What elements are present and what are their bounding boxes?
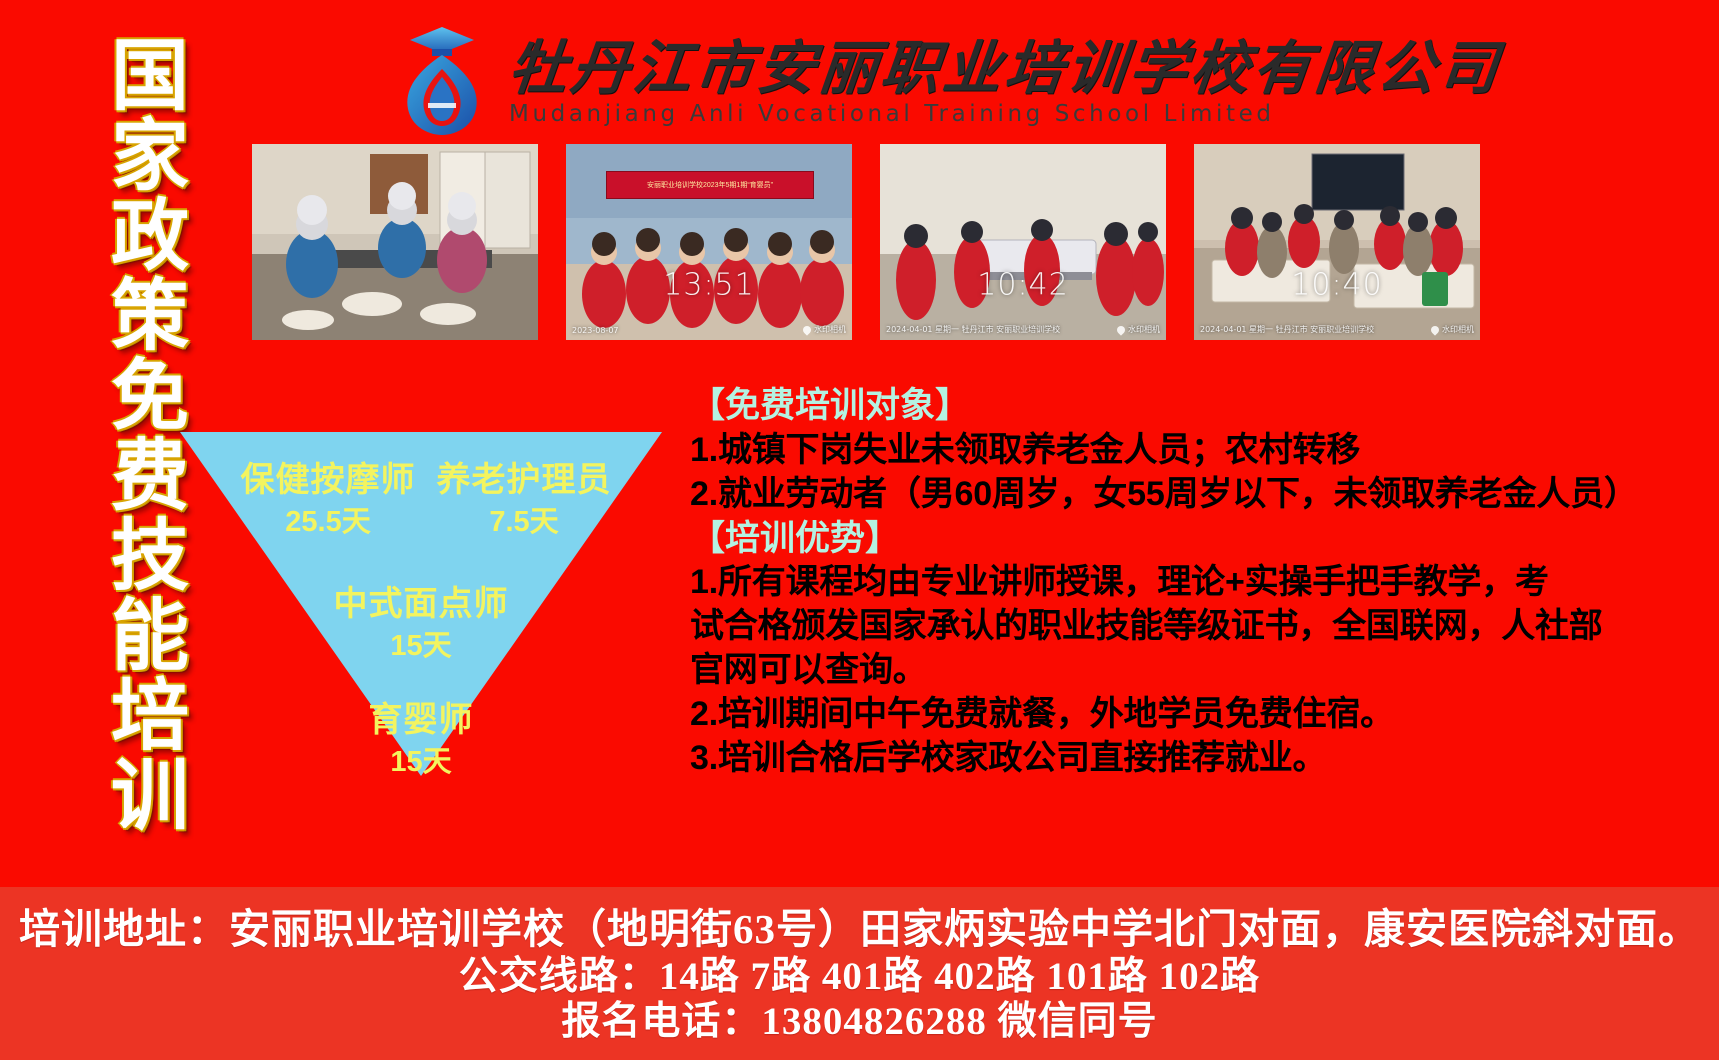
photo-watermark-brand-label: 水印相机 — [1442, 324, 1474, 335]
header: 牡丹江市安丽职业培训学校有限公司 Mudanjiang Anli Vocatio… — [390, 20, 1320, 140]
school-name-en: Mudanjiang Anli Vocational Training Scho… — [509, 101, 1501, 127]
course-triangle: 保健按摩师 25.5天 养老护理员 7.5天 中式面点师 15天 育婴师 15天 — [180, 386, 662, 776]
info-column: 【免费培训对象】 1.城镇下岗失业未领取养老金人员；农村转移 2.就业劳动者（男… — [690, 384, 1520, 781]
photo-watermark-date: 2024-04-01 星期一 牡丹江市 安丽职业培训学校 — [1200, 324, 1374, 335]
course-days-1: 7.5天 — [424, 498, 624, 540]
photo-watermark-brand: 水印相机 — [803, 324, 846, 335]
training-advantage-line-1: 1.所有课程均由专业讲师授课，理论+实操手把手教学，考 — [690, 561, 1520, 605]
photo-watermark-brand: 水印相机 — [1117, 324, 1160, 335]
photo-time: 13:51 — [663, 268, 754, 303]
photo-watermark-brand: 水印相机 — [1431, 324, 1474, 335]
training-advantage-line-4: 2.培训期间中午免费就餐，外地学员免费住宿。 — [690, 693, 1520, 737]
school-name-cn: 牡丹江市安丽职业培训学校有限公司 — [506, 39, 1504, 98]
course-days-2: 15天 — [321, 622, 521, 664]
training-advantage-heading: 【培训优势】 — [690, 517, 1520, 562]
course-name-2: 中式面点师 — [321, 576, 521, 625]
photo-nursing-practice: 10:42 2024-04-01 星期一 牡丹江市 安丽职业培训学校 水印相机 — [880, 144, 1166, 340]
course-days-3: 15天 — [321, 738, 521, 780]
photo-group-class: 安丽职业培训学校2023年5期1期“育婴员” 13:51 2023-08-07 … — [566, 144, 852, 340]
photo-pastry-class — [252, 144, 538, 340]
footer-address: 培训地址：安丽职业培训学校（地明街63号）田家炳实验中学北门对面，康安医院斜对面… — [19, 906, 1700, 954]
water-drop-icon — [801, 324, 812, 335]
footer: 培训地址：安丽职业培训学校（地明街63号）田家炳实验中学北门对面，康安医院斜对面… — [0, 887, 1719, 1060]
water-drop-icon — [1429, 324, 1440, 335]
training-advantage-line-3: 官网可以查询。 — [690, 649, 1520, 693]
vertical-headline: 国家政策免费技能培训 — [62, 34, 180, 764]
header-text: 牡丹江市安丽职业培训学校有限公司 Mudanjiang Anli Vocatio… — [509, 33, 1501, 126]
photo-watermark-date: 2024-04-01 星期一 牡丹江市 安丽职业培训学校 — [886, 324, 1060, 335]
photo-time: 10:42 — [977, 268, 1068, 303]
photo-classroom-lecture: 10:40 2024-04-01 星期一 牡丹江市 安丽职业培训学校 水印相机 — [1194, 144, 1480, 340]
course-name-0: 保健按摩师 — [228, 452, 428, 501]
photo-strip: 安丽职业培训学校2023年5期1期“育婴员” 13:51 2023-08-07 … — [252, 144, 1492, 340]
footer-bus-routes: 公交线路：14路 7路 401路 402路 101路 102路 — [459, 954, 1260, 999]
course-days-0: 25.5天 — [228, 498, 428, 540]
course-name-1: 养老护理员 — [424, 452, 624, 501]
free-training-target-heading: 【免费培训对象】 — [690, 384, 1520, 429]
water-drop-icon — [1115, 324, 1126, 335]
photo-watermark-brand-label: 水印相机 — [1128, 324, 1160, 335]
school-logo-icon — [390, 25, 495, 135]
course-name-3: 育婴师 — [321, 692, 521, 741]
photo-time: 10:40 — [1291, 268, 1382, 303]
free-training-target-line-1: 1.城镇下岗失业未领取养老金人员；农村转移 — [690, 429, 1520, 473]
footer-phone: 报名电话：13804826288 微信同号 — [561, 999, 1157, 1044]
free-training-target-line-2: 2.就业劳动者（男60周岁，女55周岁以下，未领取养老金人员） — [690, 473, 1520, 517]
photo-banner-text: 安丽职业培训学校2023年5期1期“育婴员” — [606, 171, 814, 198]
poster-root: 国家政策免费技能培训 — [0, 0, 1719, 1060]
photo-watermark-brand-label: 水印相机 — [814, 324, 846, 335]
training-advantage-line-2: 试合格颁发国家承认的职业技能等级证书，全国联网，人社部 — [690, 605, 1520, 649]
training-advantage-line-5: 3.培训合格后学校家政公司直接推荐就业。 — [690, 737, 1520, 781]
photo-watermark-date: 2023-08-07 — [572, 326, 619, 335]
